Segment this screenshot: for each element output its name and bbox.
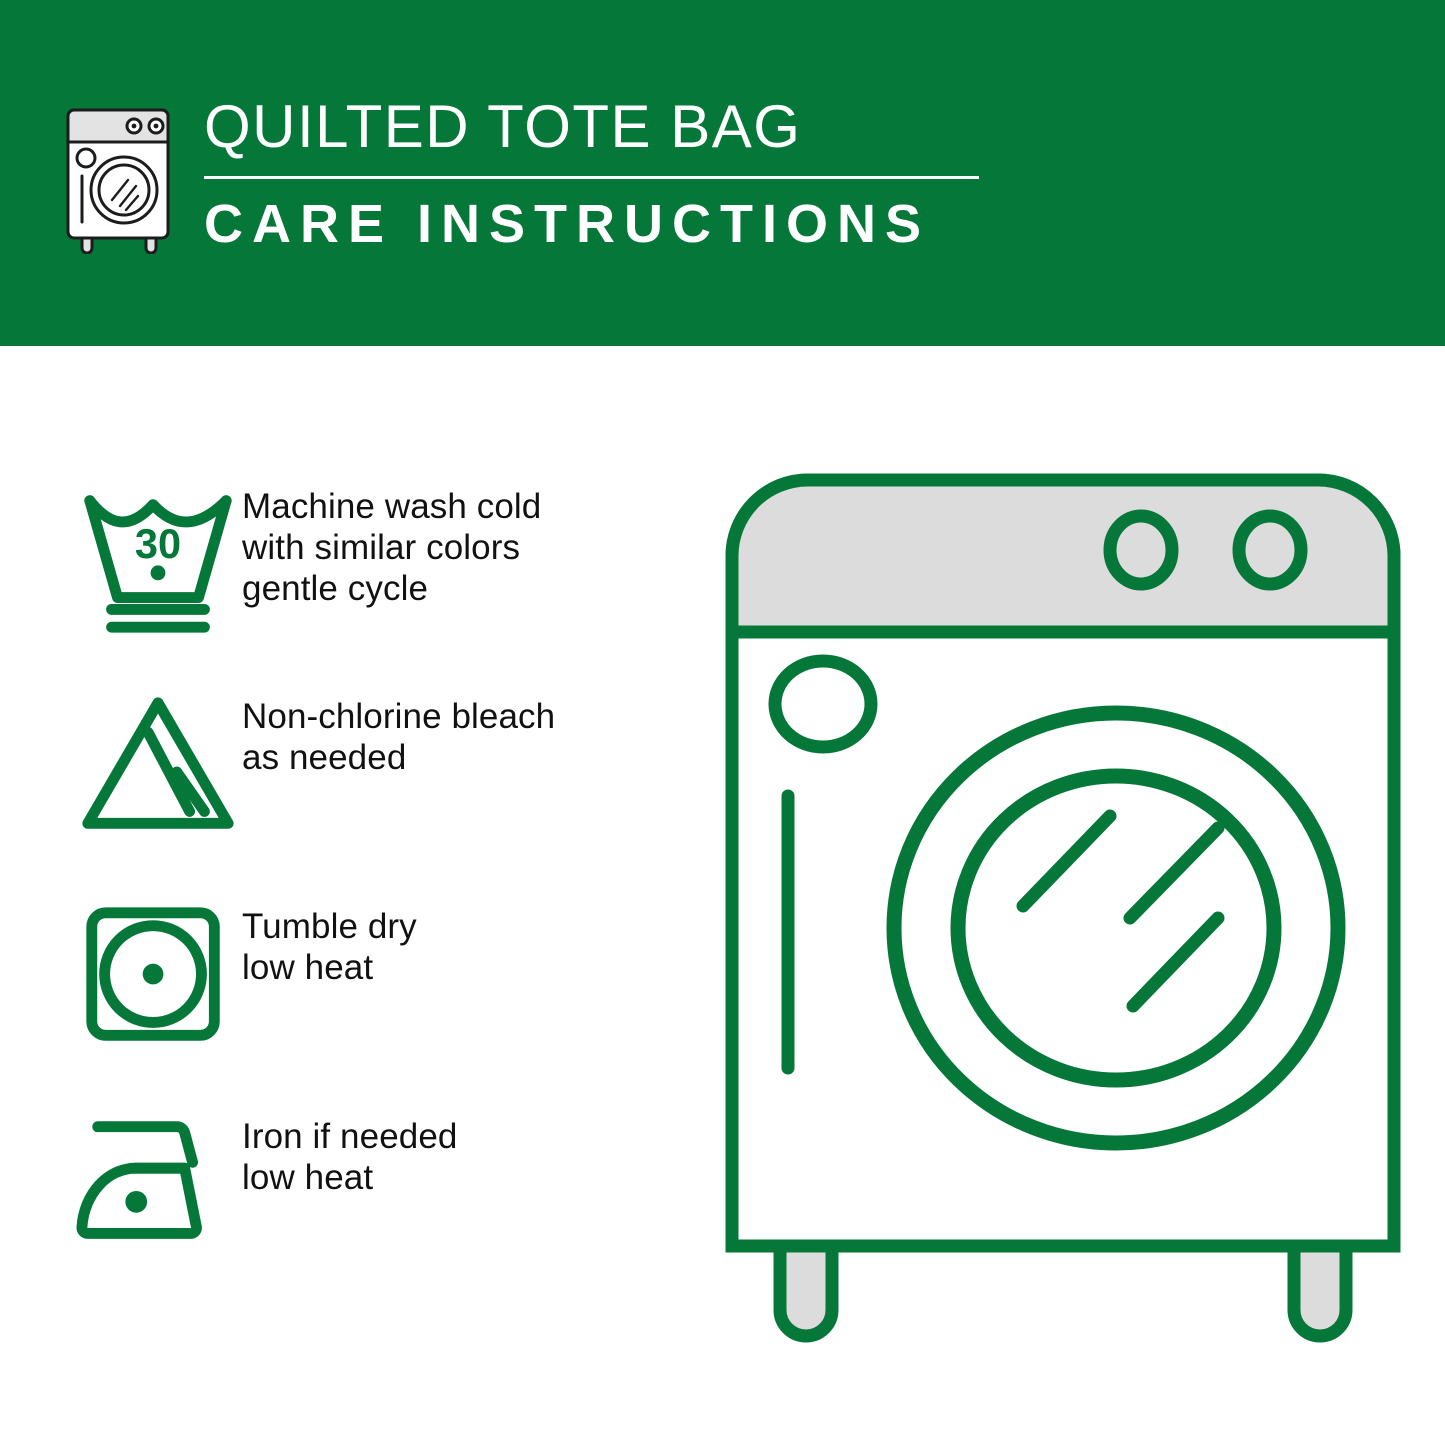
care-row-wash: 30 Machine wash cold with similar colors…: [62, 476, 702, 686]
care-label-iron: Iron if needed low heat: [242, 1106, 702, 1198]
care-row-bleach: Non-chlorine bleach as needed: [62, 686, 702, 896]
care-label-iron-line-2: low heat: [242, 1157, 702, 1198]
wash-temperature-value: 30: [135, 520, 181, 567]
washing-machine-icon: [62, 104, 178, 254]
leg-right: [1294, 1246, 1346, 1336]
care-label-bleach-line-1: Non-chlorine bleach: [242, 696, 702, 737]
tumble-dry-low-icon: [62, 896, 242, 1066]
care-label-tumble-dry-line-2: low heat: [242, 947, 702, 988]
title-divider: [204, 176, 979, 179]
care-label-wash: Machine wash cold with similar colors ge…: [242, 476, 702, 609]
header-title-block: QUILTED TOTE BAG CARE INSTRUCTIONS: [204, 96, 992, 253]
care-row-iron: Iron if needed low heat: [62, 1106, 702, 1316]
content-area: 30 Machine wash cold with similar colors…: [0, 346, 1445, 1445]
care-label-tumble-dry-line-1: Tumble dry: [242, 906, 702, 947]
large-washing-machine-illustration: [718, 466, 1408, 1356]
header-banner: QUILTED TOTE BAG CARE INSTRUCTIONS: [0, 0, 1445, 346]
care-label-wash-line-2: with similar colors: [242, 527, 702, 568]
leg-left: [780, 1246, 832, 1336]
care-label-wash-line-3: gentle cycle: [242, 568, 702, 609]
care-row-tumble-dry: Tumble dry low heat: [62, 896, 702, 1106]
care-label-wash-line-1: Machine wash cold: [242, 486, 702, 527]
page-title: QUILTED TOTE BAG: [204, 96, 992, 158]
page-subtitle: CARE INSTRUCTIONS: [204, 195, 992, 253]
care-label-tumble-dry: Tumble dry low heat: [242, 896, 702, 988]
iron-low-heat-icon: [62, 1106, 242, 1276]
care-label-bleach-line-2: as needed: [242, 737, 702, 778]
wash-tub-30-gentle-icon: 30: [62, 476, 242, 646]
care-label-bleach: Non-chlorine bleach as needed: [242, 686, 702, 778]
header-content: QUILTED TOTE BAG CARE INSTRUCTIONS: [62, 96, 992, 266]
care-label-iron-line-1: Iron if needed: [242, 1116, 702, 1157]
non-chlorine-bleach-triangle-icon: [62, 686, 242, 856]
care-instructions-list: 30 Machine wash cold with similar colors…: [62, 476, 702, 1316]
